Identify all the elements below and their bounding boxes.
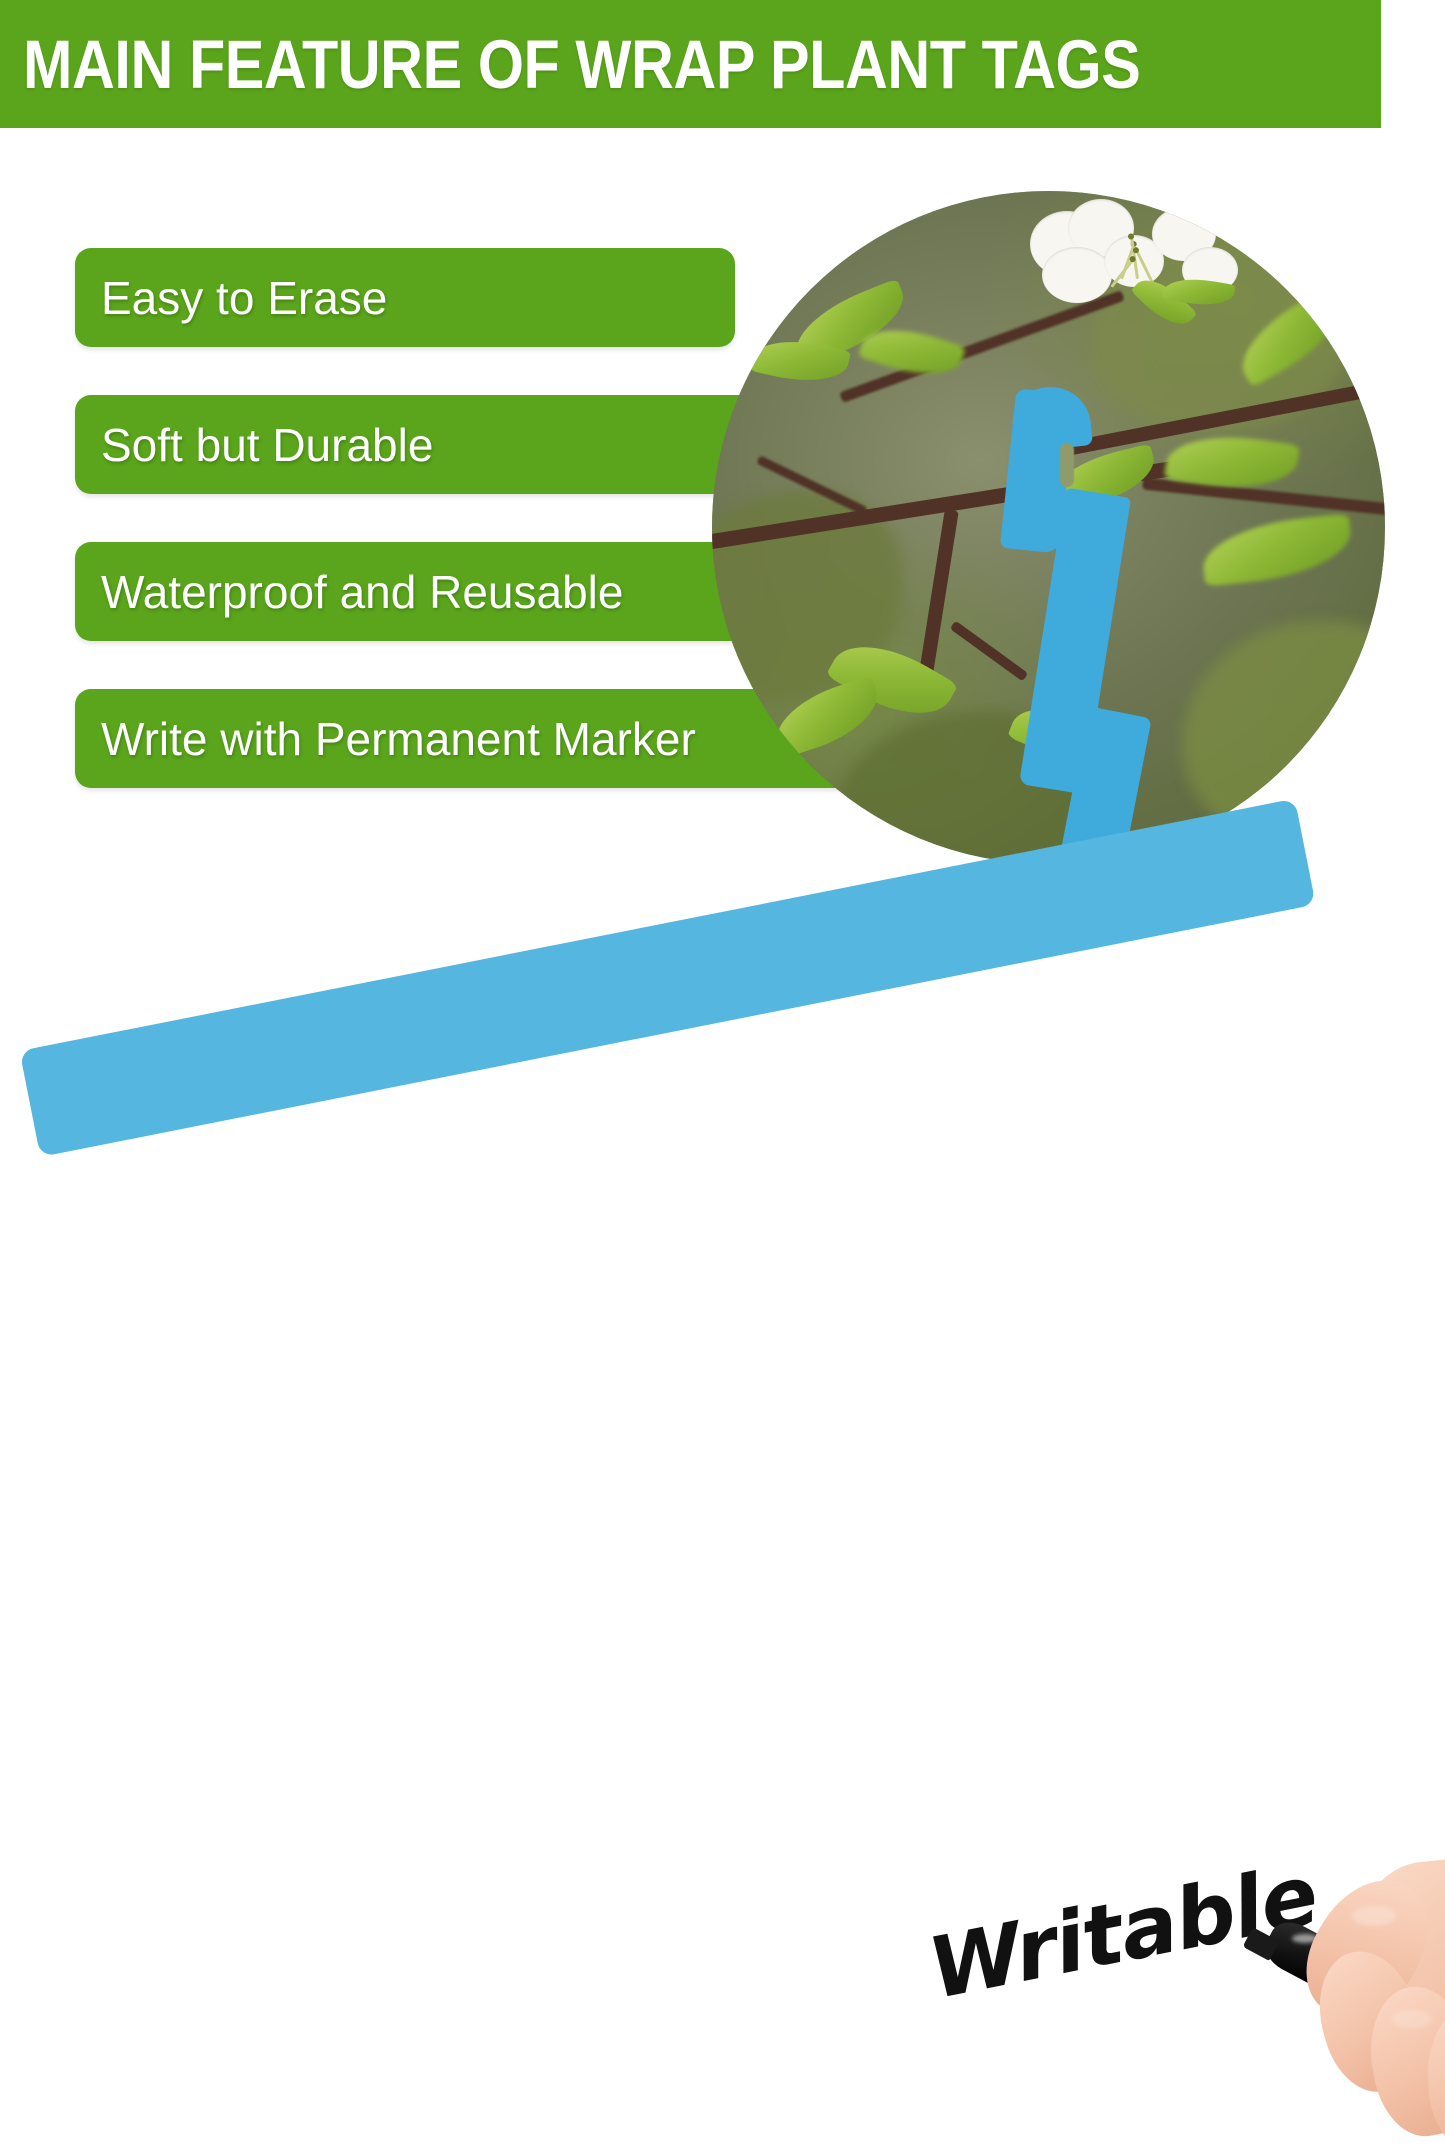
- knuckle-highlight: [1352, 1906, 1396, 1926]
- strap-notch: [795, 1874, 857, 1908]
- feature-bar-soft-but-durable: Soft but Durable: [75, 395, 775, 494]
- product-strip-photo: Writable: [0, 900, 1445, 1258]
- keyhole-slot: [176, 1125, 300, 1170]
- feature-label: Soft but Durable: [101, 422, 433, 468]
- strap-notch: [910, 1851, 972, 1885]
- feature-label: Write with Permanent Marker: [101, 716, 696, 762]
- strap-notch: [590, 2016, 652, 2050]
- blue-tag-notch-gap: [1060, 443, 1074, 487]
- product-photo-circle: [712, 191, 1385, 864]
- strap-notch: [818, 1972, 880, 2006]
- feature-label: Waterproof and Reusable: [101, 569, 624, 615]
- feature-label: Easy to Erase: [101, 275, 387, 321]
- blossom-petal: [1042, 247, 1112, 303]
- feature-bar-easy-to-erase: Easy to Erase: [75, 248, 735, 347]
- strap-notch: [702, 1994, 764, 2028]
- strap-notch: [680, 1896, 742, 1930]
- knuckle-highlight: [1392, 2010, 1432, 2028]
- strap-notch: [565, 1919, 627, 1953]
- handwritten-writable-text: Writable: [921, 1846, 1325, 2018]
